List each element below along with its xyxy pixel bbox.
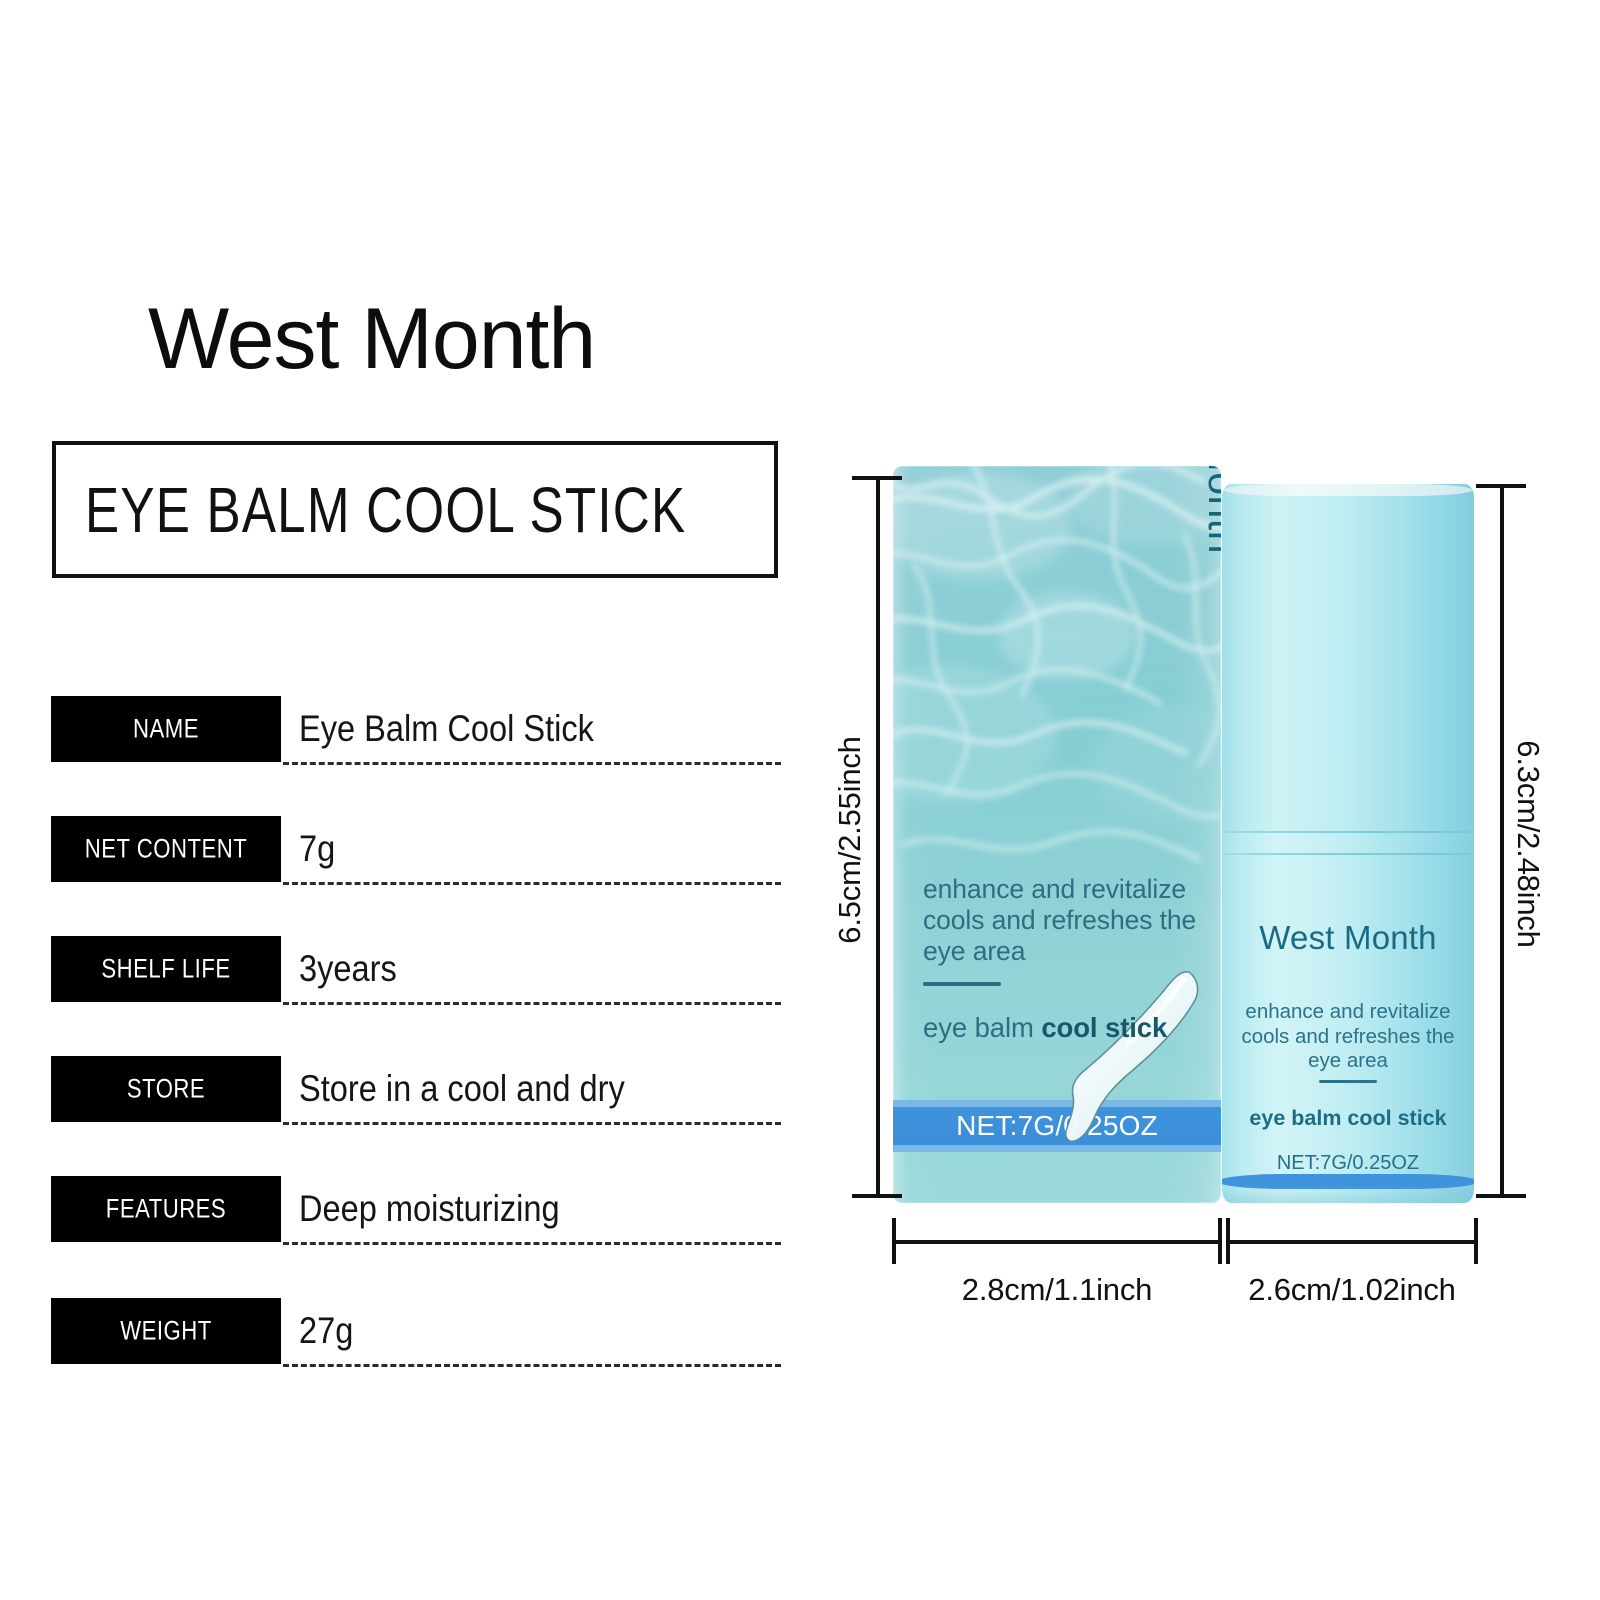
carton-copy-line-1: enhance and revitalize	[923, 874, 1185, 905]
product-title: EYE BALM COOL STICK	[85, 478, 686, 542]
spec-underline	[283, 762, 781, 765]
brand-title: West Month	[148, 296, 595, 382]
spec-row-weight: WEIGHT 27g	[51, 1298, 781, 1364]
spec-label-text: FEATURES	[106, 1194, 226, 1225]
carton-product-prefix: eye balm	[923, 1012, 1041, 1043]
spec-row-shelf-life: SHELF LIFE 3years	[51, 936, 781, 1002]
spec-value-text: Deep moisturizing	[299, 1188, 560, 1230]
tube-width-dim-cap-left	[1226, 1218, 1230, 1264]
tube-brand-text: West Month	[1222, 919, 1474, 957]
carton-height-dim-cap-top	[852, 476, 902, 480]
spec-value-text: 7g	[299, 828, 335, 870]
product-title-box: EYE BALM COOL STICK	[52, 441, 778, 578]
spec-label-box: WEIGHT	[51, 1298, 281, 1364]
tube-copy-line-3: eye area	[1222, 1049, 1474, 1074]
spec-underline	[283, 1002, 781, 1005]
spec-label-text: WEIGHT	[120, 1316, 212, 1347]
spec-label-text: STORE	[127, 1074, 205, 1105]
carton-net-band: NET:7G/0.25OZ	[893, 1100, 1221, 1152]
cream-swatch-icon	[1061, 966, 1211, 1151]
spec-row-store: STORE Store in a cool and dry	[51, 1056, 781, 1122]
carton-copy: enhance and revitalize cools and refresh…	[923, 874, 1185, 967]
water-texture-icon	[893, 466, 1221, 893]
tube-bottom-shading	[1222, 1185, 1474, 1203]
carton-copy-line-3: eye area	[923, 936, 1185, 967]
carton-width-dim-cap-right	[1218, 1218, 1222, 1264]
tube-net-text: NET:7G/0.25OZ	[1222, 1152, 1474, 1175]
carton-divider-rule	[923, 982, 1001, 986]
tube-seam-lower	[1222, 853, 1474, 855]
carton-gloss	[893, 466, 1221, 1203]
tube-copy-line-2: cools and refreshes the	[1222, 1025, 1474, 1050]
tube-height-dim-label: 6.3cm/2.48inch	[1510, 694, 1546, 994]
carton-copy-line-2: cools and refreshes the	[923, 905, 1185, 936]
spec-row-name: NAME Eye Balm Cool Stick	[51, 696, 781, 762]
carton-product-name: eye balm cool stick	[923, 1012, 1167, 1044]
carton-brand-text: West Month	[1199, 466, 1221, 554]
spec-label-box: SHELF LIFE	[51, 936, 281, 1002]
carton-width-dim-line	[893, 1240, 1221, 1244]
carton-height-dim-line	[876, 478, 880, 1196]
carton-width-dim-cap-left	[892, 1218, 896, 1264]
carton-net-text: NET:7G/0.25OZ	[893, 1110, 1221, 1142]
spec-row-features: FEATURES Deep moisturizing	[51, 1176, 781, 1242]
spec-value-text: Store in a cool and dry	[299, 1068, 625, 1110]
tube-width-dim-label: 2.6cm/1.02inch	[1212, 1272, 1492, 1308]
spec-label-box: NET CONTENT	[51, 816, 281, 882]
spec-label-box: NAME	[51, 696, 281, 762]
spec-underline	[283, 1122, 781, 1125]
tube-width-dim-cap-right	[1474, 1218, 1478, 1264]
spec-value-text: 3years	[299, 948, 397, 990]
tube-copy: enhance and revitalize cools and refresh…	[1222, 1000, 1474, 1074]
tube-product-name: eye balm cool stick	[1222, 1106, 1474, 1131]
carton-product-strong: cool stick	[1041, 1012, 1167, 1043]
spec-value-text: 27g	[299, 1310, 353, 1352]
spec-label-box: FEATURES	[51, 1176, 281, 1242]
carton-height-dim-label: 6.5cm/2.55inch	[832, 690, 868, 990]
spec-row-net-content: NET CONTENT 7g	[51, 816, 781, 882]
tube-cap	[1222, 484, 1474, 832]
spec-label-text: NAME	[133, 714, 199, 745]
tube-height-dim-line	[1500, 486, 1504, 1198]
carton-width-dim-label: 2.8cm/1.1inch	[893, 1272, 1221, 1308]
tube-width-dim-line	[1227, 1240, 1477, 1244]
tube-copy-line-1: enhance and revitalize	[1222, 1000, 1474, 1025]
tube-bottom-stripe	[1222, 1174, 1474, 1189]
product-carton: West Month enhance and revitalize cools …	[893, 466, 1221, 1203]
product-tube: West Month enhance and revitalize cools …	[1222, 484, 1474, 1203]
tube-height-dim-cap-top	[1476, 484, 1526, 488]
carton-height-dim-cap-bottom	[852, 1194, 902, 1198]
tube-divider-rule	[1319, 1080, 1377, 1083]
tube-seam-upper	[1222, 831, 1474, 833]
tube-height-dim-cap-bottom	[1476, 1194, 1526, 1198]
spec-label-text: SHELF LIFE	[101, 954, 230, 985]
spec-value-text: Eye Balm Cool Stick	[299, 708, 594, 750]
spec-underline	[283, 1364, 781, 1367]
spec-label-box: STORE	[51, 1056, 281, 1122]
spec-underline	[283, 882, 781, 885]
spec-label-text: NET CONTENT	[85, 834, 247, 865]
spec-underline	[283, 1242, 781, 1245]
tube-cap-top	[1224, 484, 1472, 496]
